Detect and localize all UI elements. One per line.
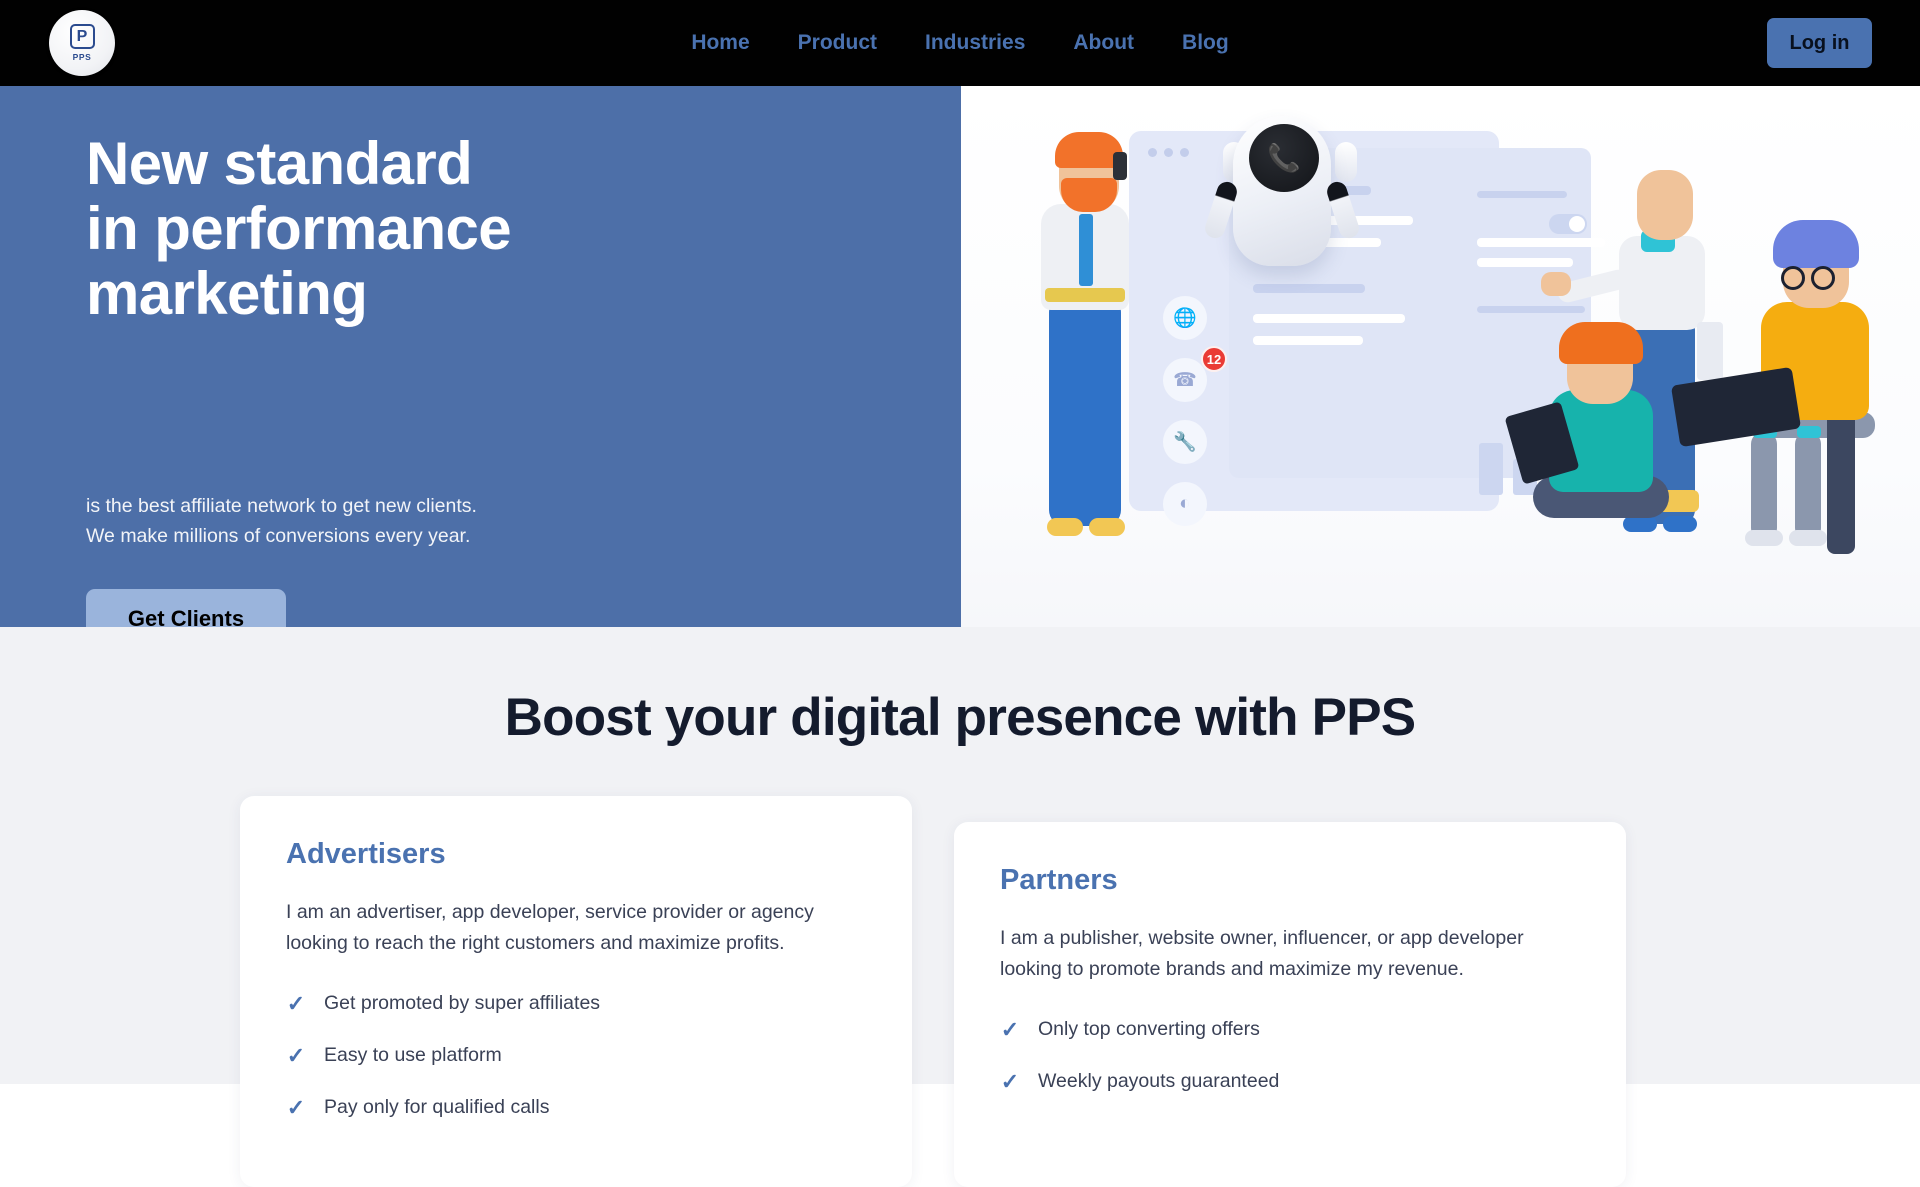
feature-label: Weekly payouts guaranteed: [1038, 1070, 1279, 1093]
nav-item-home[interactable]: Home: [691, 31, 749, 55]
check-icon: ✓: [286, 991, 306, 1017]
check-icon: ✓: [1000, 1017, 1020, 1043]
man-shoe-right: [1089, 518, 1125, 536]
panel-line-7: [1477, 191, 1567, 198]
stool-person-sock-right: [1797, 426, 1821, 438]
get-clients-button[interactable]: Get Clients: [86, 589, 286, 627]
missed-call-badge: 12: [1201, 346, 1227, 372]
hero-subheading: is the best affiliate network to get new…: [86, 492, 646, 551]
man-belt: [1045, 288, 1125, 302]
panel-line-4: [1253, 284, 1365, 293]
nav-item-blog[interactable]: Blog: [1182, 31, 1229, 55]
stool-person-hair: [1773, 220, 1859, 268]
audience-cards: Advertisers I am an advertiser, app deve…: [240, 796, 1680, 1187]
card-partners[interactable]: Partners I am a publisher, website owner…: [954, 822, 1626, 1187]
chart-bar-1: [1479, 443, 1503, 495]
woman-shoe-right: [1663, 516, 1697, 532]
woman-head: [1637, 170, 1693, 240]
check-icon: ✓: [286, 1043, 306, 1069]
nav-item-industries[interactable]: Industries: [925, 31, 1025, 55]
panel-line-8: [1477, 238, 1605, 247]
phone-call-icon: 📞: [1249, 124, 1319, 192]
card-partners-title: Partners: [1000, 864, 1580, 897]
panel-line-9: [1477, 258, 1573, 267]
stool: [1827, 404, 1855, 554]
panel-line-5: [1253, 314, 1405, 323]
page-title: Boost your digital presence with PPS: [0, 687, 1920, 748]
hero-heading-line-3: marketing: [86, 260, 367, 327]
hero-heading: New standard in performance marketing: [86, 132, 646, 326]
list-item: ✓ Pay only for qualified calls: [286, 1095, 866, 1121]
stool-person-shoe-left: [1745, 530, 1783, 546]
list-item: ✓ Weekly payouts guaranteed: [1000, 1069, 1580, 1095]
window-dot-2: [1164, 148, 1173, 157]
check-icon: ✓: [286, 1095, 306, 1121]
hero-sub-line-1: is the best affiliate network to get new…: [86, 495, 477, 517]
man-phone: [1113, 152, 1127, 180]
list-item: ✓ Only top converting offers: [1000, 1017, 1580, 1043]
wrench-icon: 🔧: [1163, 420, 1207, 464]
robot-ear-right: [1335, 142, 1357, 182]
glasses-left-lens-icon: [1781, 266, 1805, 290]
window-dot-3: [1180, 148, 1189, 157]
feature-label: Easy to use platform: [324, 1044, 502, 1067]
nav-item-about[interactable]: About: [1073, 31, 1134, 55]
hero-heading-line-1: New standard: [86, 130, 472, 197]
man-beard: [1061, 178, 1117, 212]
panel-line-6: [1253, 336, 1363, 345]
stool-person-leg-right: [1795, 432, 1821, 540]
panel-toggle: [1549, 214, 1587, 234]
kid-cap: [1559, 322, 1643, 364]
boost-section: Boost your digital presence with PPS Adv…: [0, 627, 1920, 1084]
list-item: ✓ Easy to use platform: [286, 1043, 866, 1069]
window-dot-1: [1148, 148, 1157, 157]
check-icon: ✓: [1000, 1069, 1020, 1095]
hero-heading-line-2: in performance: [86, 195, 511, 262]
pie-chart-icon: ◐: [1163, 482, 1207, 526]
hero-section: New standard in performance marketing is…: [0, 86, 1920, 627]
main-navigation: Home Product Industries About Blog: [0, 0, 1920, 86]
card-advertisers[interactable]: Advertisers I am an advertiser, app deve…: [240, 796, 912, 1187]
nav-item-product[interactable]: Product: [798, 31, 877, 55]
panel-line-10: [1477, 306, 1585, 313]
hero-illustration: 🌐 ☎ 12 🔧 ◐ 📞: [961, 86, 1920, 627]
list-item: ✓ Get promoted by super affiliates: [286, 991, 866, 1017]
woman-hand: [1541, 272, 1571, 296]
feature-label: Get promoted by super affiliates: [324, 992, 600, 1015]
stool-person-leg-left: [1751, 432, 1777, 540]
woman-tablet: [1697, 322, 1723, 380]
man-jeans: [1049, 296, 1121, 526]
stool-person-shoe-right: [1789, 530, 1827, 546]
card-advertisers-title: Advertisers: [286, 838, 866, 871]
feature-label: Pay only for qualified calls: [324, 1096, 549, 1119]
globe-icon: 🌐: [1163, 296, 1207, 340]
man-shoe-left: [1047, 518, 1083, 536]
woman-shoe-left: [1623, 516, 1657, 532]
site-header: P PPS Home Product Industries About Blog…: [0, 0, 1920, 86]
hero-sub-line-2: We make millions of conversions every ye…: [86, 525, 470, 547]
feature-label: Only top converting offers: [1038, 1018, 1260, 1041]
man-tie: [1079, 214, 1093, 286]
card-advertisers-description: I am an advertiser, app developer, servi…: [286, 897, 866, 959]
card-partners-description: I am a publisher, website owner, influen…: [1000, 923, 1580, 985]
glasses-right-lens-icon: [1811, 266, 1835, 290]
missed-call-icon: ☎: [1163, 358, 1207, 402]
login-button[interactable]: Log in: [1767, 18, 1872, 68]
